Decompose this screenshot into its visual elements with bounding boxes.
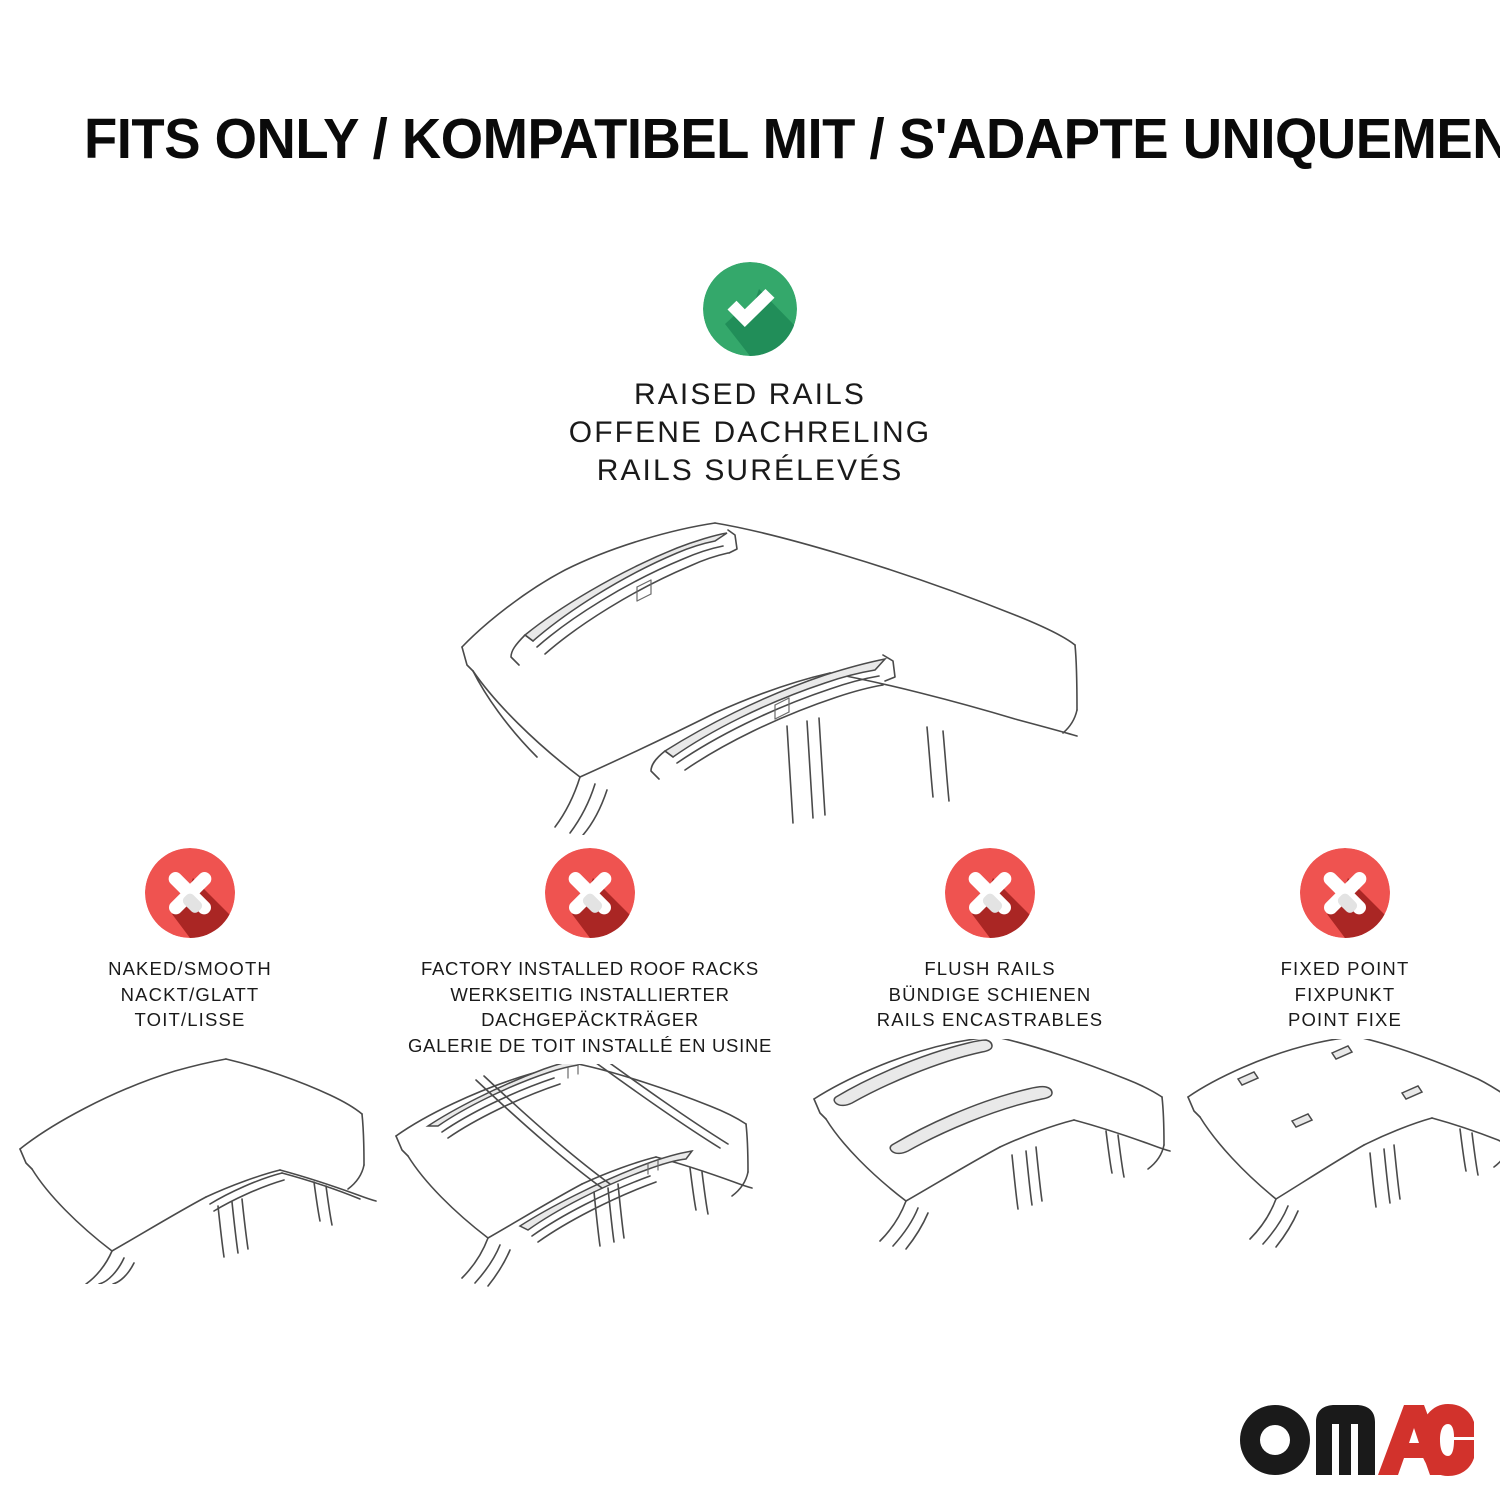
x-circle-icon: [545, 848, 635, 938]
rejected-label-line-1: FIXED POINT: [1281, 956, 1410, 982]
rejected-section: NAKED/SMOOTH NACKT/GLATT TOIT/LISSE: [0, 848, 1500, 1308]
rejected-label-line-4: GALERIE DE TOIT INSTALLÉ EN USINE: [408, 1033, 772, 1059]
rejected-label-line-3: POINT FIXE: [1281, 1007, 1410, 1033]
car-roof-naked-illustration: [0, 1039, 380, 1309]
rejected-label-line-1: FLUSH RAILS: [877, 956, 1103, 982]
rejected-item-naked-smooth: NAKED/SMOOTH NACKT/GLATT TOIT/LISSE: [0, 848, 380, 1308]
rejected-item-factory-racks: FACTORY INSTALLED ROOF RACKS WERKSEITIG …: [380, 848, 800, 1308]
x-circle-icon: [1300, 848, 1390, 938]
car-roof-raised-rails-illustration: [415, 505, 1105, 835]
rejected-item-fixed-point: FIXED POINT FIXPUNKT POINT FIXE: [1180, 848, 1500, 1308]
rejected-label: FIXED POINT FIXPUNKT POINT FIXE: [1281, 956, 1410, 1033]
rejected-label-line-2: WERKSEITIG INSTALLIERTER: [408, 982, 772, 1008]
rejected-label-line-3: TOIT/LISSE: [108, 1007, 272, 1033]
approved-label-line-1: RAISED RAILS: [420, 376, 1080, 414]
page-title: FITS ONLY / KOMPATIBEL MIT / S'ADAPTE UN…: [84, 108, 1364, 170]
rejected-label: NAKED/SMOOTH NACKT/GLATT TOIT/LISSE: [108, 956, 272, 1033]
car-roof-fixed-point-illustration: [1180, 1039, 1500, 1309]
rejected-label: FLUSH RAILS BÜNDIGE SCHIENEN RAILS ENCAS…: [877, 956, 1103, 1033]
rejected-label-line-3: DACHGEPÄCKTRÄGER: [408, 1007, 772, 1033]
rejected-label-line-2: FIXPUNKT: [1281, 982, 1410, 1008]
rejected-item-flush-rails: FLUSH RAILS BÜNDIGE SCHIENEN RAILS ENCAS…: [800, 848, 1180, 1308]
rejected-label-line-1: FACTORY INSTALLED ROOF RACKS: [408, 956, 772, 982]
x-circle-icon: [145, 848, 235, 938]
car-roof-factory-racks-illustration: [380, 1064, 800, 1308]
approved-label: RAISED RAILS OFFENE DACHRELING RAILS SUR…: [420, 376, 1080, 490]
rejected-label-line-3: RAILS ENCASTRABLES: [877, 1007, 1103, 1033]
check-circle-icon: [703, 262, 797, 356]
car-roof-flush-rails-illustration: [800, 1039, 1180, 1309]
x-circle-icon: [945, 848, 1035, 938]
rejected-label-line-1: NAKED/SMOOTH: [108, 956, 272, 982]
approved-label-line-2: OFFENE DACHRELING: [420, 414, 1080, 452]
approved-label-line-3: RAILS SURÉLEVÉS: [420, 452, 1080, 490]
approved-section: RAISED RAILS OFFENE DACHRELING RAILS SUR…: [420, 262, 1080, 490]
rejected-label-line-2: NACKT/GLATT: [108, 982, 272, 1008]
rejected-label-line-2: BÜNDIGE SCHIENEN: [877, 982, 1103, 1008]
omac-logo: [1238, 1404, 1474, 1476]
rejected-label: FACTORY INSTALLED ROOF RACKS WERKSEITIG …: [408, 956, 772, 1058]
